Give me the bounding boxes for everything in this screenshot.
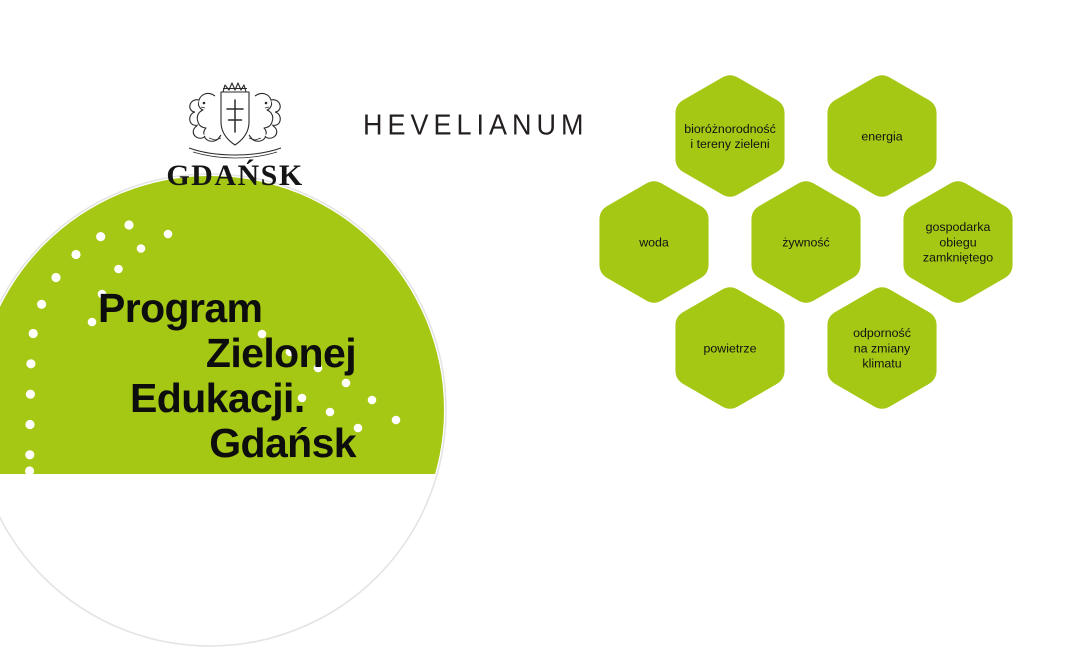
hexagon-zywnosc[interactable]: żywność xyxy=(751,181,860,303)
hexagon-gospodarka-obiegu-zamknietego[interactable]: gospodarkaobieguzamkniętego xyxy=(903,181,1012,303)
hexagon-cluster-diagram: bioróżnorodnośći tereny zielenienergiawo… xyxy=(620,48,1032,436)
slide-canvas: GDAŃSK HEVELIANUM xyxy=(0,0,1080,648)
hevelianum-logo: HEVELIANUM xyxy=(363,111,589,140)
hexagon-bioroznorodnosc[interactable]: bioróżnorodnośći tereny zieleni xyxy=(675,75,784,197)
hexagon-label-bioroznorodnosc: bioróżnorodnośći tereny zieleni xyxy=(684,122,776,151)
gdansk-wordmark: GDAŃSK xyxy=(165,161,305,191)
logo-panel: GDAŃSK HEVELIANUM xyxy=(0,0,620,648)
program-badge xyxy=(0,172,448,648)
hexagon-shape xyxy=(675,75,784,197)
hexagon-energia[interactable]: energia xyxy=(827,75,936,197)
hexagon-odpornosc-na-zmiany-klimatu[interactable]: odpornośćna zmianyklimatu xyxy=(827,287,936,409)
gdansk-coat-of-arms-icon xyxy=(171,76,299,160)
hexagon-label-energia: energia xyxy=(861,129,902,143)
hexagon-powietrze[interactable]: powietrze xyxy=(675,287,784,409)
hexagon-label-woda: woda xyxy=(638,235,669,249)
gdansk-city-logo: GDAŃSK xyxy=(165,76,305,191)
hexagon-label-zywnosc: żywność xyxy=(782,235,830,249)
hexagon-label-powietrze: powietrze xyxy=(703,341,756,355)
